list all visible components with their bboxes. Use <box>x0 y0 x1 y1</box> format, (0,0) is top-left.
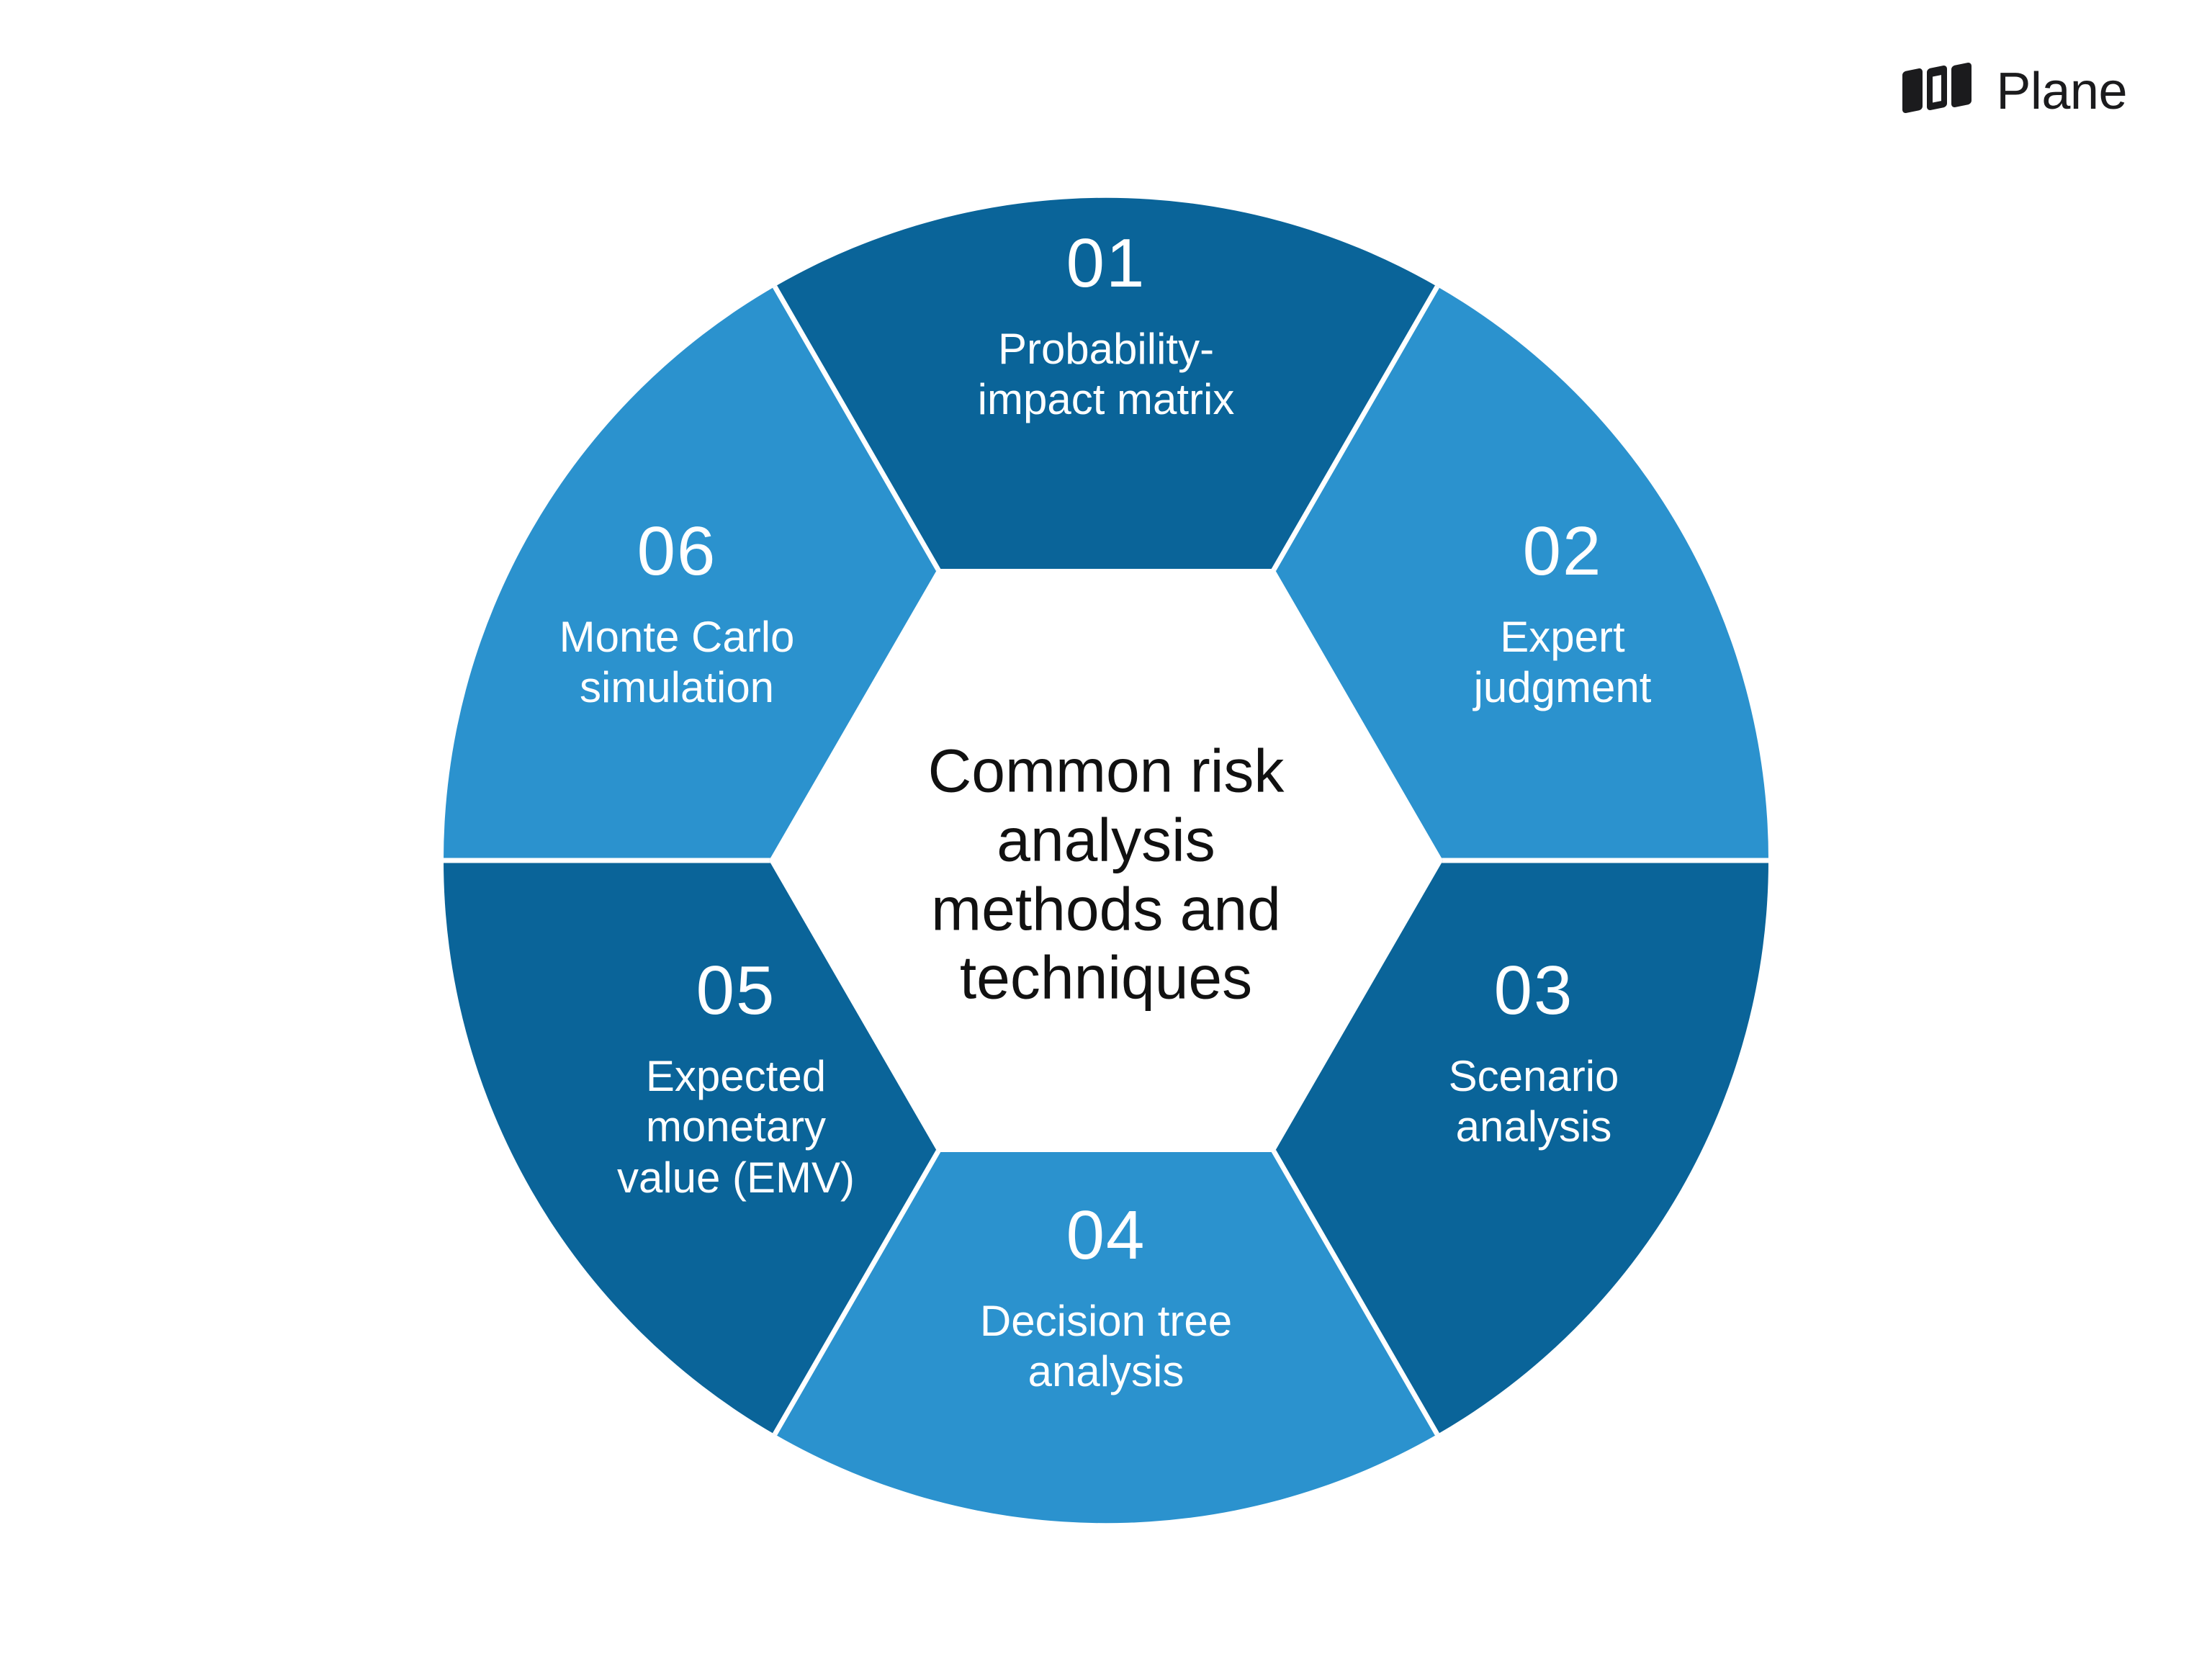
segment-05-title: Expected monetary value (EMV) <box>563 1051 909 1203</box>
segment-03-title: Scenario analysis <box>1361 1051 1707 1152</box>
segment-04-title: Decision tree analysis <box>883 1296 1329 1397</box>
segment-06-title: Monte Carlo simulation <box>497 612 857 713</box>
segment-02-number: 02 <box>1390 517 1735 586</box>
diagram-center-title: Common risk analysis methods and techniq… <box>854 737 1358 1013</box>
segment-04-number: 04 <box>883 1201 1329 1270</box>
segment-02-label: 02 Expert judgment <box>1390 504 1735 727</box>
segment-06-number: 06 <box>497 517 857 586</box>
segment-02-title: Expert judgment <box>1390 612 1735 713</box>
segment-03-label: 03 Scenario analysis <box>1361 943 1707 1166</box>
segment-01-title: Probability- impact matrix <box>876 324 1336 425</box>
segment-04-label: 04 Decision tree analysis <box>883 1188 1329 1411</box>
risk-methods-wheel-diagram: 01 Probability- impact matrix 02 Expert … <box>0 0 2212 1659</box>
segment-01-label: 01 Probability- impact matrix <box>876 216 1336 439</box>
segment-06-label: 06 Monte Carlo simulation <box>497 504 857 727</box>
segment-03-number: 03 <box>1361 956 1707 1025</box>
segment-01-number: 01 <box>876 229 1336 298</box>
